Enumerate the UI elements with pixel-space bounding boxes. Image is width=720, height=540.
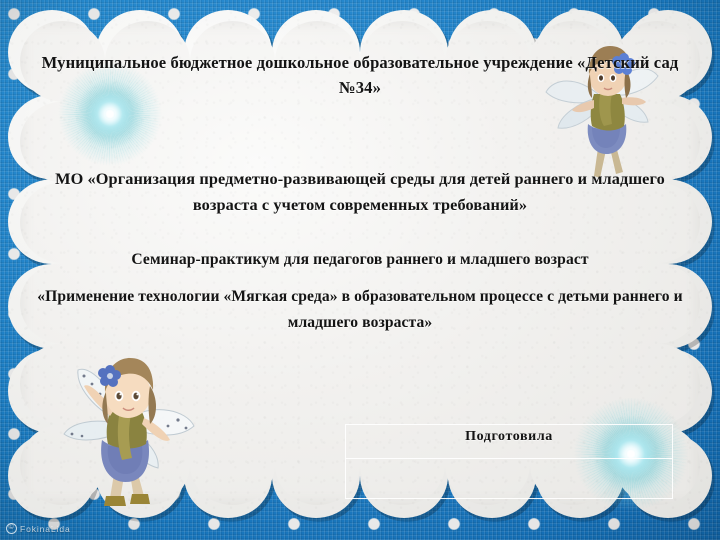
author-box-divider — [346, 458, 672, 459]
seminar-line-2: «Применение технологии «Мягкая среда» в … — [37, 288, 554, 305]
page-title: Муниципальное бюджетное дошкольное образ… — [22, 50, 698, 100]
presentation-slide: Муниципальное бюджетное дошкольное образ… — [0, 0, 720, 540]
theme-line-1: МО «Организация предметно-развивающей ср… — [55, 169, 587, 188]
author-box[interactable]: Подготовила — [345, 424, 673, 499]
seminar-line-1: Семинар-практикум для педагогов раннего … — [20, 247, 700, 273]
title-line-1: Муниципальное бюджетное дошкольное образ… — [42, 53, 573, 72]
watermark-text: FokinaLida — [20, 524, 71, 534]
theme-text: МО «Организация предметно-развивающей ср… — [26, 166, 694, 218]
author-label: Подготовила — [346, 429, 672, 445]
copyright-icon: © — [6, 523, 17, 534]
fairy-figure-icon — [48, 344, 200, 516]
seminar-text: Семинар-практикум для педагогов раннего … — [20, 247, 700, 336]
watermark: © FokinaLida — [6, 523, 71, 534]
